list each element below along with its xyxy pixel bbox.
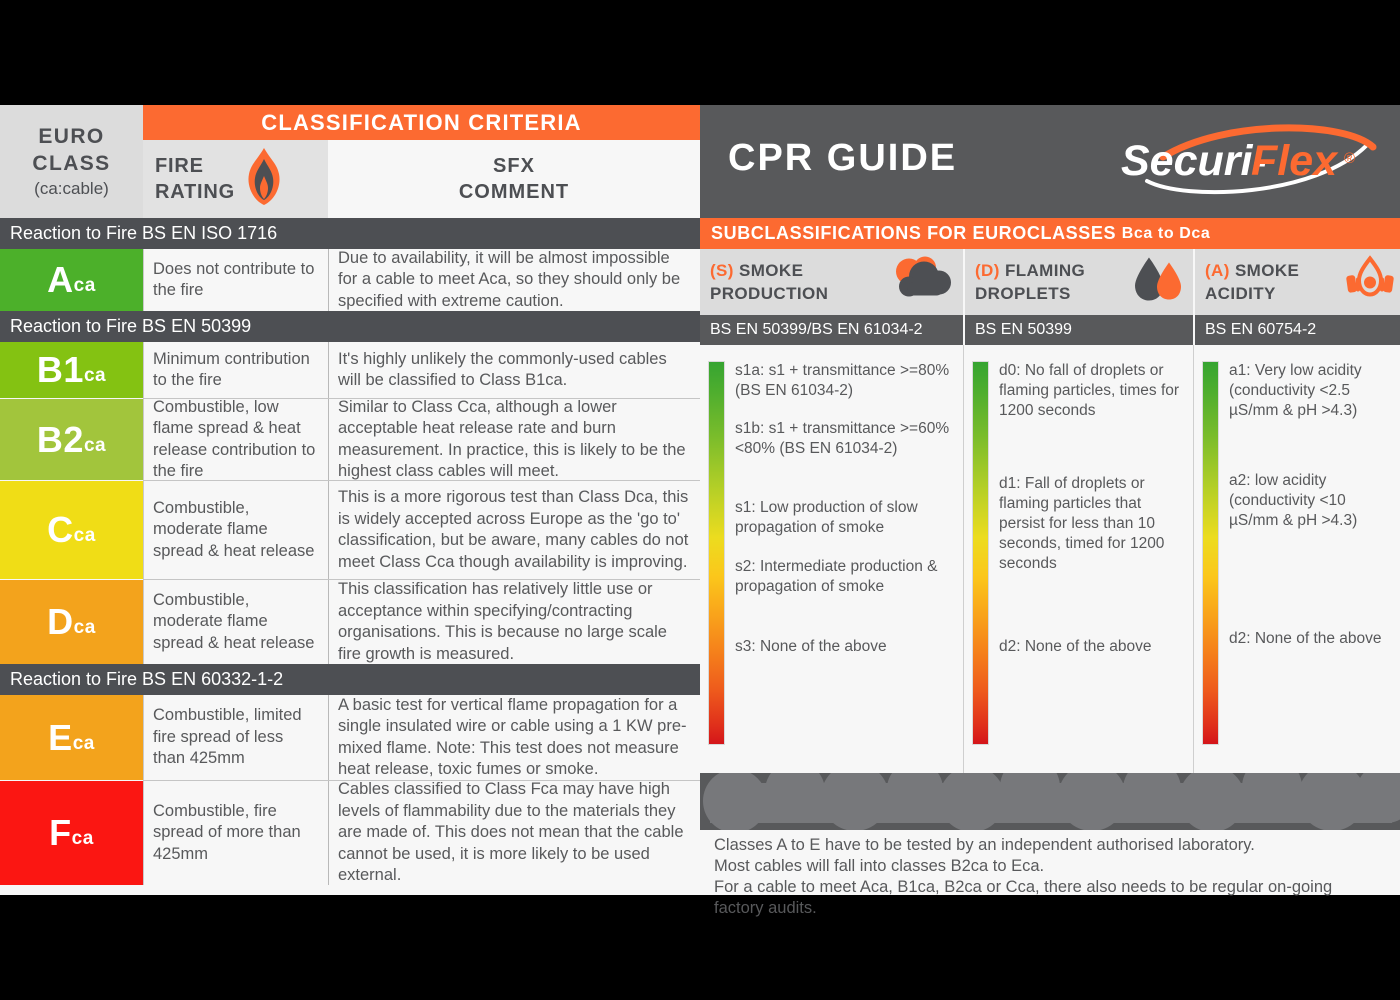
list-item: s3: None of the above xyxy=(735,637,953,657)
class-letter: B1 xyxy=(37,349,84,391)
subclass-title-light: Bca to Dca xyxy=(1122,225,1211,243)
section-bar-en-50399: Reaction to Fire BS EN 50399 xyxy=(0,311,700,342)
list-item: s1: Low production of slow propagation o… xyxy=(735,498,953,538)
fire-rating-cell: Combustible, moderate flame spread & hea… xyxy=(143,580,328,664)
euroclass-badge-eca: Eca xyxy=(0,695,143,780)
smoke-title-line1: SMOKE xyxy=(739,261,803,280)
flame-icon xyxy=(239,146,289,213)
fire-rating-header-cell: FIRE RATING xyxy=(143,140,328,218)
list-item: d2: None of the above xyxy=(1229,629,1390,649)
droplets-gradient-bar xyxy=(972,361,989,745)
section-bar-iso-1716: Reaction to Fire BS EN ISO 1716 xyxy=(0,218,700,249)
subclassifications-title-bar: SUBCLASSIFICATIONS FOR EUROCLASSES Bca t… xyxy=(700,218,1400,249)
footnote-line3: For a cable to meet Aca, B1ca, B2ca or C… xyxy=(714,877,1386,898)
smoke-item-list: s1a: s1 + transmittance >=80% (BS EN 610… xyxy=(735,361,955,763)
column-header-smoke-acidity: (A) SMOKE ACIDITY xyxy=(1193,249,1400,315)
table-row: Aca Does not contribute to the fire Due … xyxy=(0,249,700,311)
smoke-acidity-cell: a1: Very low acidity (conductivity <2.5 … xyxy=(1193,345,1400,773)
svg-text:Securi-: Securi- xyxy=(1121,137,1267,185)
class-subscript: ca xyxy=(74,617,96,639)
sfx-comment-cell: It's highly unlikely the commonly-used c… xyxy=(328,342,700,398)
sfx-comment-cell: This classification has relatively littl… xyxy=(328,580,700,664)
euroclass-table-panel: EURO CLASS (ca:cable) CLASSIFICATION CRI… xyxy=(0,105,700,895)
table-row: B2ca Combustible, low flame spread & hea… xyxy=(0,399,700,480)
euro-label-line2: CLASS xyxy=(32,150,110,177)
class-letter: B2 xyxy=(37,419,84,461)
droplets-title-line2: DROPLETS xyxy=(975,282,1085,305)
class-subscript: ca xyxy=(74,275,96,297)
sfx-comment-cell: A basic test for vertical flame propagat… xyxy=(328,695,700,780)
fire-rating-cell: Combustible, low flame spread & heat rel… xyxy=(143,399,328,480)
sfx-comment-header-cell: SFX COMMENT xyxy=(328,140,700,218)
right-header-bar: CPR GUIDE Securi- Flex ® xyxy=(700,105,1400,218)
sfx-comment-cell: Cables classified to Class Fca may have … xyxy=(328,781,700,885)
standard-acidity: BS EN 60754-2 xyxy=(1193,315,1400,345)
classification-criteria-title: CLASSIFICATION CRITERIA xyxy=(143,105,700,140)
list-item: d1: Fall of droplets or flaming particle… xyxy=(999,474,1183,574)
list-item: a1: Very low acidity (conductivity <2.5 … xyxy=(1229,361,1390,421)
euroclass-badge-b2ca: B2ca xyxy=(0,399,143,480)
class-letter: D xyxy=(47,601,74,643)
list-item: d2: None of the above xyxy=(999,637,1183,657)
euroclass-badge-fca: Fca xyxy=(0,781,143,885)
footnote-line4: factory audits. xyxy=(714,898,1386,919)
class-subscript: ca xyxy=(84,365,106,387)
class-subscript: ca xyxy=(73,733,95,755)
flaming-droplets-cell: d0: No fall of droplets or flaming parti… xyxy=(963,345,1193,773)
table-row: Dca Combustible, moderate flame spread &… xyxy=(0,580,700,664)
euro-label-line3: (ca:cable) xyxy=(34,177,109,201)
standard-droplets: BS EN 50399 xyxy=(963,315,1193,345)
svg-text:®: ® xyxy=(1344,150,1355,167)
fire-rating-cell: Minimum contribution to the fire xyxy=(143,342,328,398)
sfx-header-line2: COMMENT xyxy=(459,179,569,205)
sfx-comment-cell: This is a more rigorous test than Class … xyxy=(328,481,700,579)
standards-row: BS EN 50399/BS EN 61034-2 BS EN 50399 BS… xyxy=(700,315,1400,345)
acidity-gradient-bar xyxy=(1202,361,1219,745)
sfx-comment-cell: Due to availability, it will be almost i… xyxy=(328,249,700,311)
subclass-title-bold: SUBCLASSIFICATIONS FOR EUROCLASSES xyxy=(711,223,1116,244)
class-subscript: ca xyxy=(74,525,96,547)
class-subscript: ca xyxy=(72,828,94,850)
class-letter: F xyxy=(49,812,72,854)
table-row: Cca Combustible, moderate flame spread &… xyxy=(0,481,700,579)
class-letter: E xyxy=(48,717,73,759)
left-table-header: EURO CLASS (ca:cable) CLASSIFICATION CRI… xyxy=(0,105,700,218)
subclassification-panel: CPR GUIDE Securi- Flex ® SUBCLASSIFICATI… xyxy=(700,105,1400,895)
fire-rating-line1: FIRE xyxy=(155,153,235,179)
euro-class-header-cell: EURO CLASS (ca:cable) xyxy=(0,105,143,218)
subclass-body: s1a: s1 + transmittance >=80% (BS EN 610… xyxy=(700,345,1400,773)
securi-flex-logo: Securi- Flex ® xyxy=(1115,119,1385,205)
acidity-title-line1: SMOKE xyxy=(1235,261,1299,280)
sfx-header-line1: SFX xyxy=(493,153,535,179)
table-row: Eca Combustible, limited fire spread of … xyxy=(0,695,700,780)
column-header-smoke-production: (S) SMOKE PRODUCTION xyxy=(700,249,963,315)
euroclass-badge-dca: Dca xyxy=(0,580,143,664)
list-item: s2: Intermediate production & propagatio… xyxy=(735,557,953,597)
fire-rating-cell: Combustible, limited fire spread of less… xyxy=(143,695,328,780)
smoke-key: (S) xyxy=(710,261,734,280)
page-title: CPR GUIDE xyxy=(728,137,957,180)
svg-text:Flex: Flex xyxy=(1251,137,1339,185)
fire-rating-cell: Combustible, moderate flame spread & hea… xyxy=(143,481,328,579)
fire-rating-line2: RATING xyxy=(155,179,235,205)
list-item: d0: No fall of droplets or flaming parti… xyxy=(999,361,1183,421)
droplets-item-list: d0: No fall of droplets or flaming parti… xyxy=(999,361,1185,763)
footnote-line2: Most cables will fall into classes B2ca … xyxy=(714,856,1386,877)
smoke-gradient-bar xyxy=(708,361,725,745)
decorative-cloud-band xyxy=(700,773,1400,830)
flaming-droplets-icon xyxy=(1131,255,1187,310)
sfx-comment-cell: Similar to Class Cca, although a lower a… xyxy=(328,399,700,480)
standard-smoke: BS EN 50399/BS EN 61034-2 xyxy=(700,315,963,345)
euroclass-badge-cca: Cca xyxy=(0,481,143,579)
class-letter: A xyxy=(47,259,74,301)
smoke-production-cell: s1a: s1 + transmittance >=80% (BS EN 610… xyxy=(700,345,963,773)
droplets-title-line1: FLAMING xyxy=(1005,261,1085,280)
acidity-title-line2: ACIDITY xyxy=(1205,282,1299,305)
euro-label-line1: EURO xyxy=(38,123,104,150)
footnote-text: Classes A to E have to be tested by an i… xyxy=(700,830,1400,895)
acidity-item-list: a1: Very low acidity (conductivity <2.5 … xyxy=(1229,361,1392,763)
respirator-icon xyxy=(1346,256,1394,309)
section-bar-en-60332: Reaction to Fire BS EN 60332-1-2 xyxy=(0,664,700,695)
infographic-canvas: EURO CLASS (ca:cable) CLASSIFICATION CRI… xyxy=(0,105,1400,895)
smoke-title-line2: PRODUCTION xyxy=(710,282,828,305)
class-subscript: ca xyxy=(84,435,106,457)
table-row: B1ca Minimum contribution to the fire It… xyxy=(0,342,700,398)
list-item: s1a: s1 + transmittance >=80% (BS EN 610… xyxy=(735,361,953,401)
euroclass-badge-aca: Aca xyxy=(0,249,143,311)
fire-rating-cell: Combustible, fire spread of more than 42… xyxy=(143,781,328,885)
acidity-key: (A) xyxy=(1205,261,1230,280)
smoke-cloud-icon xyxy=(887,257,957,308)
column-header-flaming-droplets: (D) FLAMING DROPLETS xyxy=(963,249,1193,315)
list-item: s1b: s1 + transmittance >=60% <80% (BS E… xyxy=(735,419,953,459)
class-letter: C xyxy=(47,509,74,551)
table-row: Fca Combustible, fire spread of more tha… xyxy=(0,781,700,885)
euroclass-badge-b1ca: B1ca xyxy=(0,342,143,398)
list-item: a2: low acidity (conductivity <10 µS/mm … xyxy=(1229,471,1390,531)
fire-rating-cell: Does not contribute to the fire xyxy=(143,249,328,311)
subclass-column-headers: (S) SMOKE PRODUCTION xyxy=(700,249,1400,315)
droplets-key: (D) xyxy=(975,261,1000,280)
footnote-line1: Classes A to E have to be tested by an i… xyxy=(714,835,1386,856)
fire-rating-label: FIRE RATING xyxy=(155,153,235,205)
